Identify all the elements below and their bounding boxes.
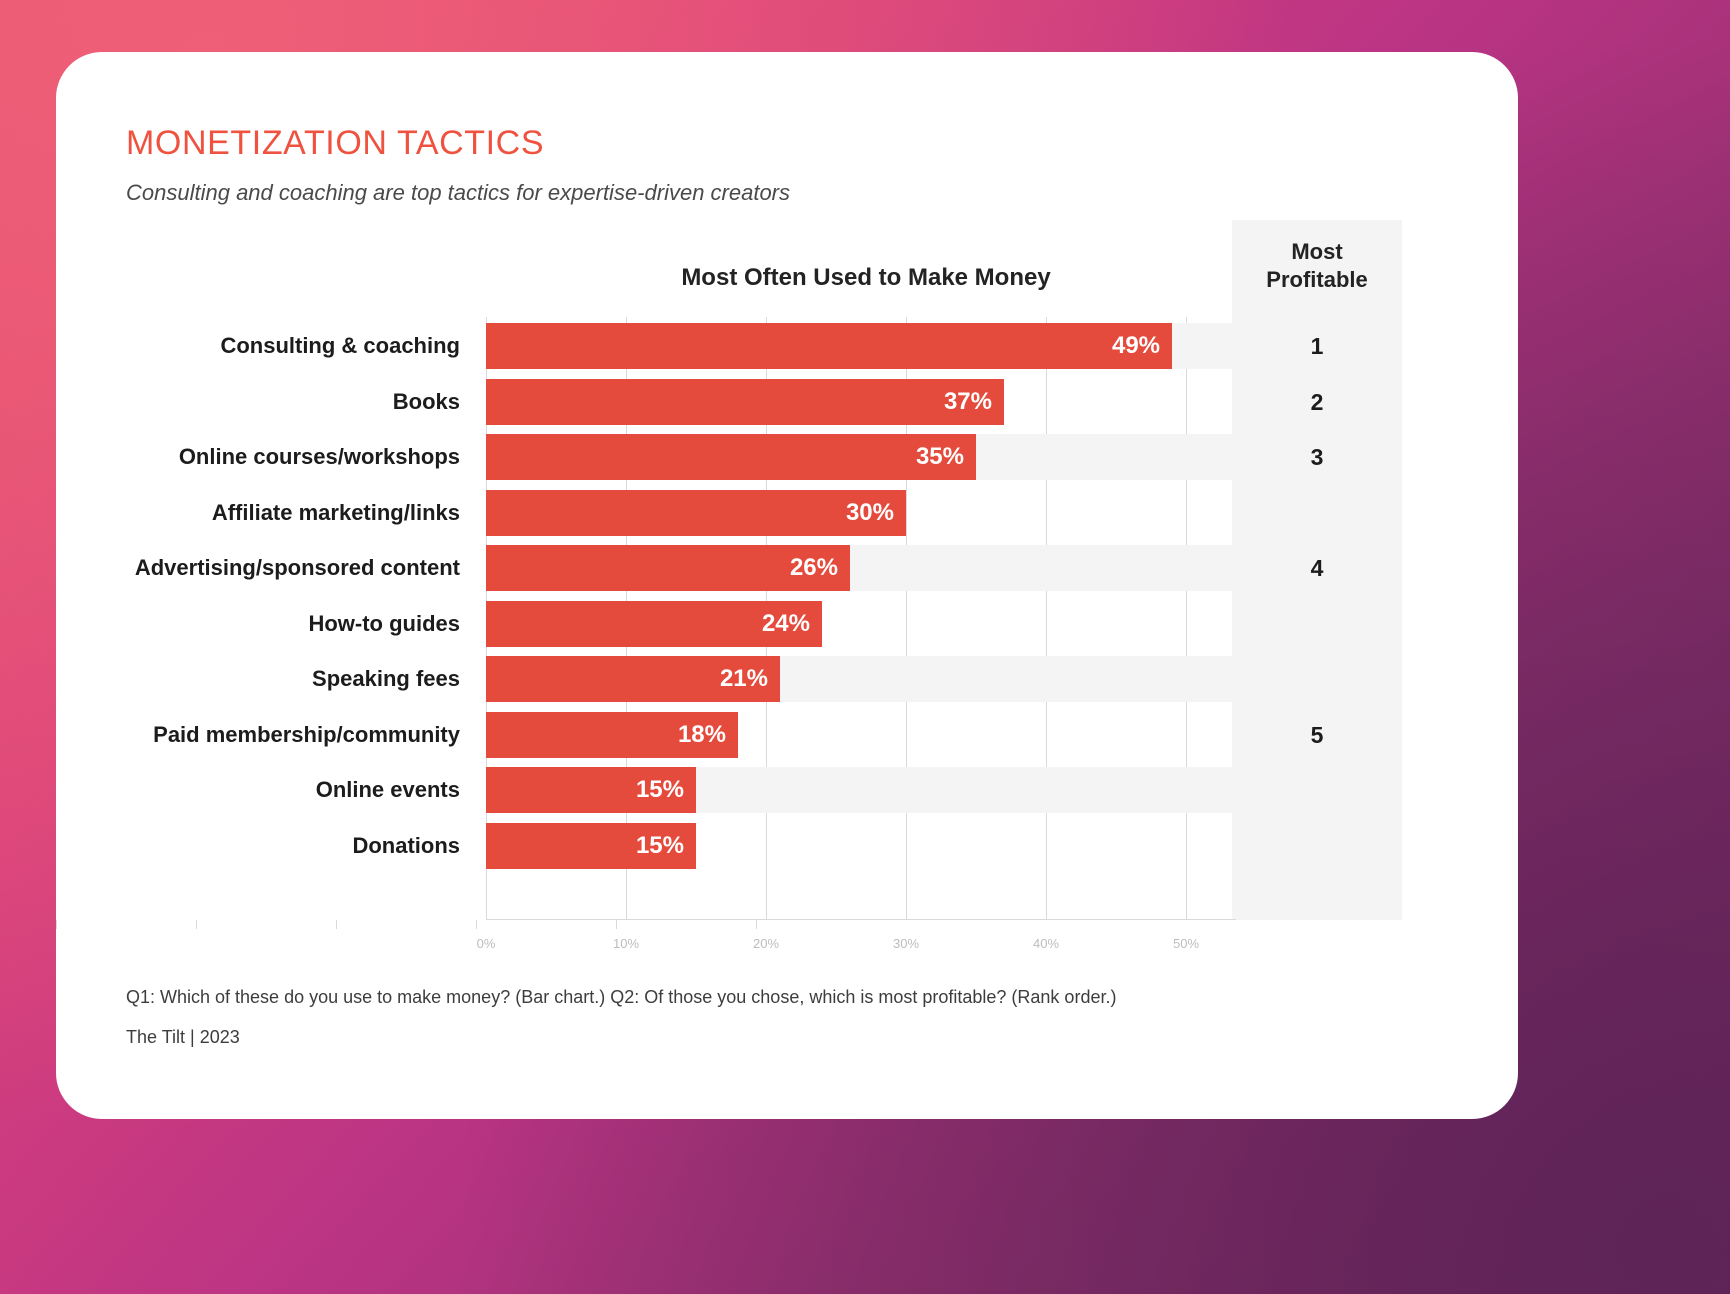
bar[interactable]: 15% — [486, 767, 696, 813]
most-profitable-rank: 5 — [1232, 712, 1402, 758]
bar-value-label: 26% — [790, 545, 838, 591]
category-label: Donations — [56, 823, 476, 869]
bar[interactable]: 15% — [486, 823, 696, 869]
bar-value-label: 35% — [916, 434, 964, 480]
bar[interactable]: 26% — [486, 545, 850, 591]
bar[interactable]: 35% — [486, 434, 976, 480]
most-profitable-rank: 3 — [1232, 434, 1402, 480]
bar-value-label: 24% — [762, 601, 810, 647]
category-label: Consulting & coaching — [56, 323, 476, 369]
x-tick-label: 50% — [1173, 936, 1199, 951]
x-tick-mark — [336, 920, 337, 929]
bar-value-label: 49% — [1112, 323, 1160, 369]
gridline — [1046, 317, 1047, 920]
x-tick-mark — [56, 920, 57, 929]
category-label: Advertising/sponsored content — [56, 545, 476, 591]
bar[interactable]: 21% — [486, 656, 780, 702]
most-profitable-header: Most Profitable — [1232, 238, 1402, 294]
chart-column-header: Most Often Used to Make Money — [486, 264, 1246, 292]
gridline — [1186, 317, 1187, 920]
plot-area: Consulting & coaching49%Books37%Online c… — [486, 317, 1236, 920]
x-tick-mark — [756, 920, 757, 929]
bar[interactable]: 49% — [486, 323, 1172, 369]
bar[interactable]: 24% — [486, 601, 822, 647]
most-profitable-header-line1: Most — [1232, 238, 1402, 266]
x-tick-label: 0% — [477, 936, 496, 951]
x-tick-mark — [196, 920, 197, 929]
x-tick-mark — [476, 920, 477, 929]
category-label: Affiliate marketing/links — [56, 490, 476, 536]
chart: Most Often Used to Make Money Most Profi… — [56, 52, 1518, 1119]
bar-value-label: 15% — [636, 823, 684, 869]
bar[interactable]: 18% — [486, 712, 738, 758]
bar[interactable]: 37% — [486, 379, 1004, 425]
category-label: Paid membership/community — [56, 712, 476, 758]
source-line: The Tilt | 2023 — [126, 1027, 240, 1048]
x-axis-line — [486, 919, 1236, 920]
bar-value-label: 21% — [720, 656, 768, 702]
bar-value-label: 15% — [636, 767, 684, 813]
category-label: Books — [56, 379, 476, 425]
most-profitable-header-line2: Profitable — [1232, 266, 1402, 294]
most-profitable-rank: 2 — [1232, 379, 1402, 425]
category-label: Speaking fees — [56, 656, 476, 702]
bar[interactable]: 30% — [486, 490, 906, 536]
bar-value-label: 30% — [846, 490, 894, 536]
category-label: Online courses/workshops — [56, 434, 476, 480]
x-tick-label: 10% — [613, 936, 639, 951]
most-profitable-rank: 4 — [1232, 545, 1402, 591]
category-label: How-to guides — [56, 601, 476, 647]
chart-card: MONETIZATION TACTICS Consulting and coac… — [56, 52, 1518, 1119]
footnote: Q1: Which of these do you use to make mo… — [126, 987, 1116, 1008]
bar-value-label: 37% — [944, 379, 992, 425]
x-tick-label: 20% — [753, 936, 779, 951]
most-profitable-rank: 1 — [1232, 323, 1402, 369]
category-label: Online events — [56, 767, 476, 813]
x-tick-label: 40% — [1033, 936, 1059, 951]
bar-value-label: 18% — [678, 712, 726, 758]
x-tick-label: 30% — [893, 936, 919, 951]
x-tick-mark — [616, 920, 617, 929]
